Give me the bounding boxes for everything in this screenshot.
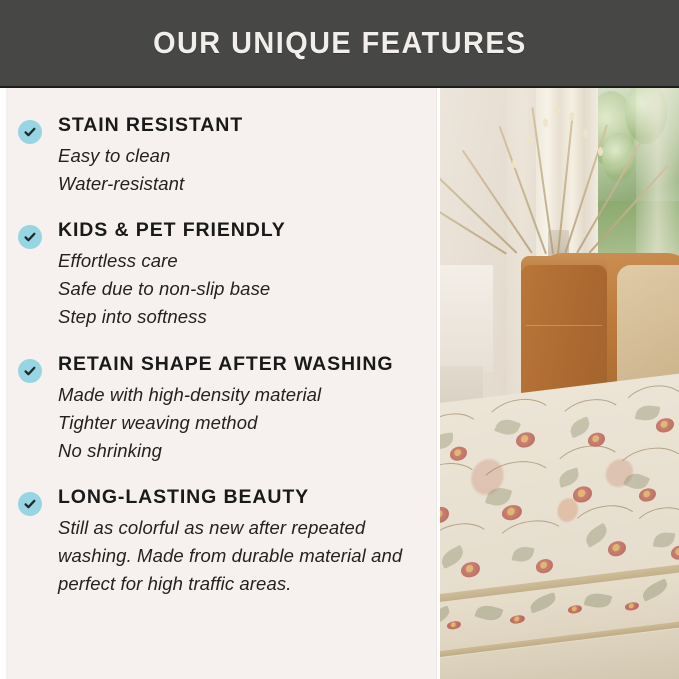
feature-detail: No shrinking [58, 437, 424, 465]
area-rug [440, 372, 679, 679]
wall-panel [440, 265, 493, 371]
feature-title: RETAIN SHAPE AFTER WASHING [58, 353, 424, 376]
feature-detail: Step into softness [58, 303, 424, 331]
content-split: STAIN RESISTANT Easy to clean Water-resi… [0, 88, 679, 679]
feature-detail-list: Easy to clean Water-resistant [58, 142, 424, 198]
check-icon-wrap [18, 219, 48, 249]
feature-item: STAIN RESISTANT Easy to clean Water-resi… [18, 114, 424, 198]
check-circle-icon [18, 359, 42, 383]
feature-detail: Effortless care [58, 247, 424, 275]
check-circle-icon [18, 120, 42, 144]
feature-item: LONG-LASTING BEAUTY Still as colorful as… [18, 486, 424, 598]
features-panel: STAIN RESISTANT Easy to clean Water-resi… [0, 88, 437, 679]
product-photo [437, 88, 679, 679]
feature-detail-list: Still as colorful as new after repeated … [58, 514, 424, 598]
feature-detail: Safe due to non-slip base [58, 275, 424, 303]
feature-detail-list: Made with high-density material Tighter … [58, 381, 424, 465]
feature-title: LONG-LASTING BEAUTY [58, 486, 424, 509]
photo-scene [440, 88, 679, 679]
check-icon-wrap [18, 114, 48, 144]
feature-detail: Still as colorful as new after repeated … [58, 514, 424, 598]
feature-item: KIDS & PET FRIENDLY Effortless care Safe… [18, 219, 424, 331]
feature-body: LONG-LASTING BEAUTY Still as colorful as… [48, 486, 424, 598]
feature-body: KIDS & PET FRIENDLY Effortless care Safe… [48, 219, 424, 331]
feature-item: RETAIN SHAPE AFTER WASHING Made with hig… [18, 353, 424, 465]
header-bar: OUR UNIQUE FEATURES [0, 0, 679, 88]
check-icon-wrap [18, 353, 48, 383]
feature-detail: Easy to clean [58, 142, 424, 170]
feature-detail: Water-resistant [58, 170, 424, 198]
check-circle-icon [18, 225, 42, 249]
feature-infographic: OUR UNIQUE FEATURES STAIN RESISTANT Easy [0, 0, 679, 679]
feature-detail-list: Effortless care Safe due to non-slip bas… [58, 247, 424, 331]
check-icon-wrap [18, 486, 48, 516]
feature-title: STAIN RESISTANT [58, 114, 424, 137]
page-title: OUR UNIQUE FEATURES [153, 25, 527, 61]
feature-title: KIDS & PET FRIENDLY [58, 219, 424, 242]
check-circle-icon [18, 492, 42, 516]
feature-detail: Made with high-density material [58, 381, 424, 409]
feature-body: STAIN RESISTANT Easy to clean Water-resi… [48, 114, 424, 198]
feature-body: RETAIN SHAPE AFTER WASHING Made with hig… [48, 353, 424, 465]
feature-detail: Tighter weaving method [58, 409, 424, 437]
